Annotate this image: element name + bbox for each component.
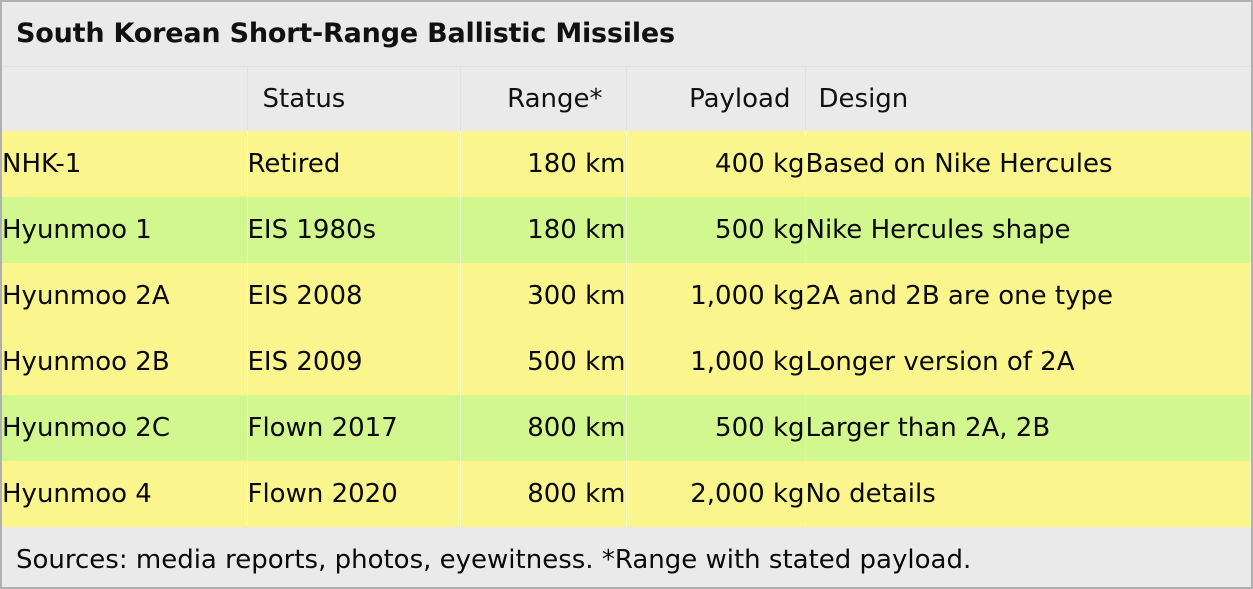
table-footer-row: Sources: media reports, photos, eyewitne… <box>2 527 1251 589</box>
table-row: NHK-1 Retired 180 km 400 kg Based on Nik… <box>2 131 1251 197</box>
table-title-row: South Korean Short-Range Ballistic Missi… <box>2 2 1251 66</box>
column-header-payload: Payload <box>626 66 805 131</box>
column-header-name <box>2 66 247 131</box>
cell-design: Larger than 2A, 2B <box>805 395 1251 461</box>
cell-range: 300 km <box>460 263 626 329</box>
cell-range: 500 km <box>460 329 626 395</box>
column-header-design: Design <box>805 66 1251 131</box>
cell-status: EIS 2009 <box>247 329 460 395</box>
cell-range: 180 km <box>460 197 626 263</box>
column-header-range: Range* <box>460 66 626 131</box>
missile-table: South Korean Short-Range Ballistic Missi… <box>2 2 1251 589</box>
page-title: South Korean Short-Range Ballistic Missi… <box>2 2 1251 66</box>
cell-missile-name: Hyunmoo 2C <box>2 395 247 461</box>
cell-payload: 500 kg <box>626 197 805 263</box>
cell-payload: 2,000 kg <box>626 461 805 527</box>
cell-payload: 1,000 kg <box>626 329 805 395</box>
column-header-status: Status <box>247 66 460 131</box>
table-row: Hyunmoo 2C Flown 2017 800 km 500 kg Larg… <box>2 395 1251 461</box>
cell-range: 800 km <box>460 395 626 461</box>
cell-design: 2A and 2B are one type <box>805 263 1251 329</box>
cell-payload: 500 kg <box>626 395 805 461</box>
cell-status: EIS 2008 <box>247 263 460 329</box>
table-header-row: Status Range* Payload Design <box>2 66 1251 131</box>
table-row: Hyunmoo 2A EIS 2008 300 km 1,000 kg 2A a… <box>2 263 1251 329</box>
cell-missile-name: Hyunmoo 4 <box>2 461 247 527</box>
cell-range: 800 km <box>460 461 626 527</box>
cell-missile-name: NHK-1 <box>2 131 247 197</box>
cell-design: Longer version of 2A <box>805 329 1251 395</box>
table-row: Hyunmoo 1 EIS 1980s 180 km 500 kg Nike H… <box>2 197 1251 263</box>
cell-payload: 400 kg <box>626 131 805 197</box>
cell-design: Nike Hercules shape <box>805 197 1251 263</box>
cell-status: EIS 1980s <box>247 197 460 263</box>
cell-missile-name: Hyunmoo 2B <box>2 329 247 395</box>
cell-status: Flown 2020 <box>247 461 460 527</box>
table-row: Hyunmoo 4 Flown 2020 800 km 2,000 kg No … <box>2 461 1251 527</box>
cell-missile-name: Hyunmoo 1 <box>2 197 247 263</box>
cell-missile-name: Hyunmoo 2A <box>2 263 247 329</box>
cell-design: Based on Nike Hercules <box>805 131 1251 197</box>
cell-design: No details <box>805 461 1251 527</box>
cell-status: Flown 2017 <box>247 395 460 461</box>
sources-note: Sources: media reports, photos, eyewitne… <box>2 527 1251 589</box>
cell-range: 180 km <box>460 131 626 197</box>
cell-payload: 1,000 kg <box>626 263 805 329</box>
table-row: Hyunmoo 2B EIS 2009 500 km 1,000 kg Long… <box>2 329 1251 395</box>
cell-status: Retired <box>247 131 460 197</box>
missile-table-frame: South Korean Short-Range Ballistic Missi… <box>0 0 1253 589</box>
